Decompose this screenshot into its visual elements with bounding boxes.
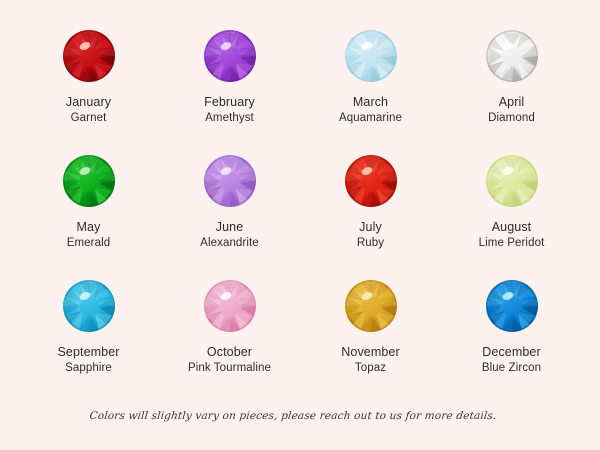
birthstone-cell: AprilDiamond [441,30,582,155]
gem-icon [345,30,397,82]
birthstone-cell: NovemberTopaz [300,280,441,405]
birthstone-cell: JanuaryGarnet [18,30,159,155]
birthstone-cell: JulyRuby [300,155,441,280]
gem-blue-zircon-icon [486,280,538,332]
stone-label: Emerald [67,236,111,252]
stone-label: Topaz [355,361,386,377]
month-label: April [499,94,525,111]
month-label: July [359,219,382,236]
birthstone-chart: JanuaryGarnetFebruaryAmethystMarchAquama… [0,0,600,450]
month-label: January [66,94,111,111]
month-label: October [207,344,252,361]
month-label: December [482,344,540,361]
stone-label: Ruby [357,236,384,252]
month-label: November [341,344,399,361]
gem-icon [204,30,256,82]
gem-amethyst-icon [204,30,256,82]
gem-icon [486,30,538,82]
stone-label: Diamond [488,111,535,127]
month-label: March [353,94,388,111]
gem-emerald-icon [63,155,115,207]
gem-icon [486,155,538,207]
birthstone-cell: OctoberPink Tourmaline [159,280,300,405]
birthstone-cell: JuneAlexandrite [159,155,300,280]
gem-aquamarine-icon [345,30,397,82]
gem-alexandrite-icon [204,155,256,207]
stone-label: Garnet [71,111,107,127]
gem-garnet-icon [63,30,115,82]
gem-pink-tourmaline-icon [204,280,256,332]
birthstone-cell: MayEmerald [18,155,159,280]
month-label: February [204,94,255,111]
gem-icon [345,280,397,332]
month-label: August [492,219,532,236]
month-label: May [77,219,101,236]
birthstone-cell: SeptemberSapphire [18,280,159,405]
stone-label: Aquamarine [339,111,402,127]
gem-icon [345,155,397,207]
stone-label: Lime Peridot [479,236,545,252]
stone-label: Blue Zircon [482,361,541,377]
stone-label: Alexandrite [200,236,259,252]
stone-label: Sapphire [65,361,112,377]
gem-topaz-icon [345,280,397,332]
footnote-text: Colors will slightly vary on pieces, ple… [0,410,600,422]
stone-label: Pink Tourmaline [188,361,271,377]
gem-icon [204,280,256,332]
gem-ruby-icon [345,155,397,207]
birthstone-cell: FebruaryAmethyst [159,30,300,155]
gem-sapphire-icon [63,280,115,332]
birthstone-cell: AugustLime Peridot [441,155,582,280]
gem-icon [63,155,115,207]
birthstone-cell: MarchAquamarine [300,30,441,155]
birthstone-grid: JanuaryGarnetFebruaryAmethystMarchAquama… [18,30,582,405]
gem-lime-peridot-icon [486,155,538,207]
gem-icon [63,30,115,82]
gem-diamond-icon [486,30,538,82]
month-label: September [57,344,119,361]
month-label: June [216,219,244,236]
gem-icon [63,280,115,332]
gem-icon [204,155,256,207]
gem-icon [486,280,538,332]
birthstone-cell: DecemberBlue Zircon [441,280,582,405]
stone-label: Amethyst [205,111,254,127]
